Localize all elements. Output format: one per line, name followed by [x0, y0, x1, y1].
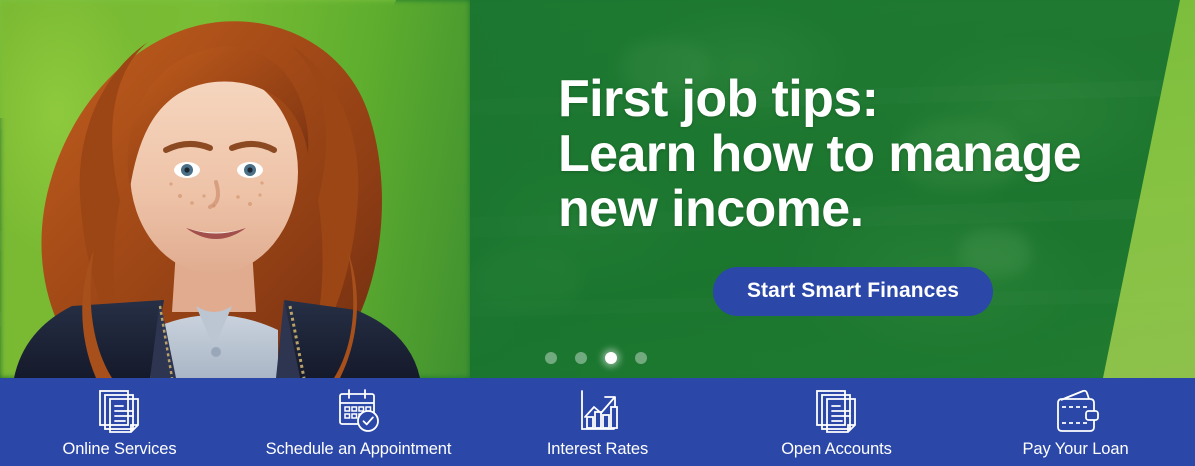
bar-chart-rising-arrow-icon	[572, 387, 624, 435]
quicklink-interest-rates[interactable]: Interest Rates	[478, 378, 717, 459]
carousel-dots	[545, 352, 647, 364]
hero-banner: First job tips: Learn how to manage new …	[0, 0, 1195, 378]
quicklink-pay-your-loan[interactable]: Pay Your Loan	[956, 378, 1195, 459]
quicklink-online-services[interactable]: Online Services	[0, 378, 239, 459]
calendar-check-icon	[333, 387, 385, 435]
quicklink-open-accounts[interactable]: Open Accounts	[717, 378, 956, 459]
wallet-icon	[1049, 387, 1103, 435]
quicklink-label: Schedule an Appointment	[266, 439, 452, 459]
stacked-documents-icon	[94, 387, 146, 435]
quicklink-label: Open Accounts	[781, 439, 892, 459]
hero-copy: First job tips: Learn how to manage new …	[558, 72, 1158, 237]
stacked-documents-icon	[811, 387, 863, 435]
carousel-dot-4[interactable]	[635, 352, 647, 364]
carousel-dot-1[interactable]	[545, 352, 557, 364]
quicklink-schedule-an-appointment[interactable]: Schedule an Appointment	[239, 378, 478, 459]
hero-headline: First job tips: Learn how to manage new …	[558, 72, 1158, 237]
start-smart-finances-button[interactable]: Start Smart Finances	[713, 267, 993, 316]
hero-portrait-photo	[0, 0, 470, 378]
quicklink-label: Online Services	[62, 439, 176, 459]
page-root: First job tips: Learn how to manage new …	[0, 0, 1195, 466]
quicklinks-bar: Online Services Schedu	[0, 378, 1195, 466]
quicklink-label: Interest Rates	[547, 439, 648, 459]
carousel-dot-3[interactable]	[605, 352, 617, 364]
quicklink-label: Pay Your Loan	[1022, 439, 1128, 459]
hero-cta-container: Start Smart Finances	[558, 267, 1148, 316]
person-illustration	[0, 0, 470, 378]
carousel-dot-2[interactable]	[575, 352, 587, 364]
